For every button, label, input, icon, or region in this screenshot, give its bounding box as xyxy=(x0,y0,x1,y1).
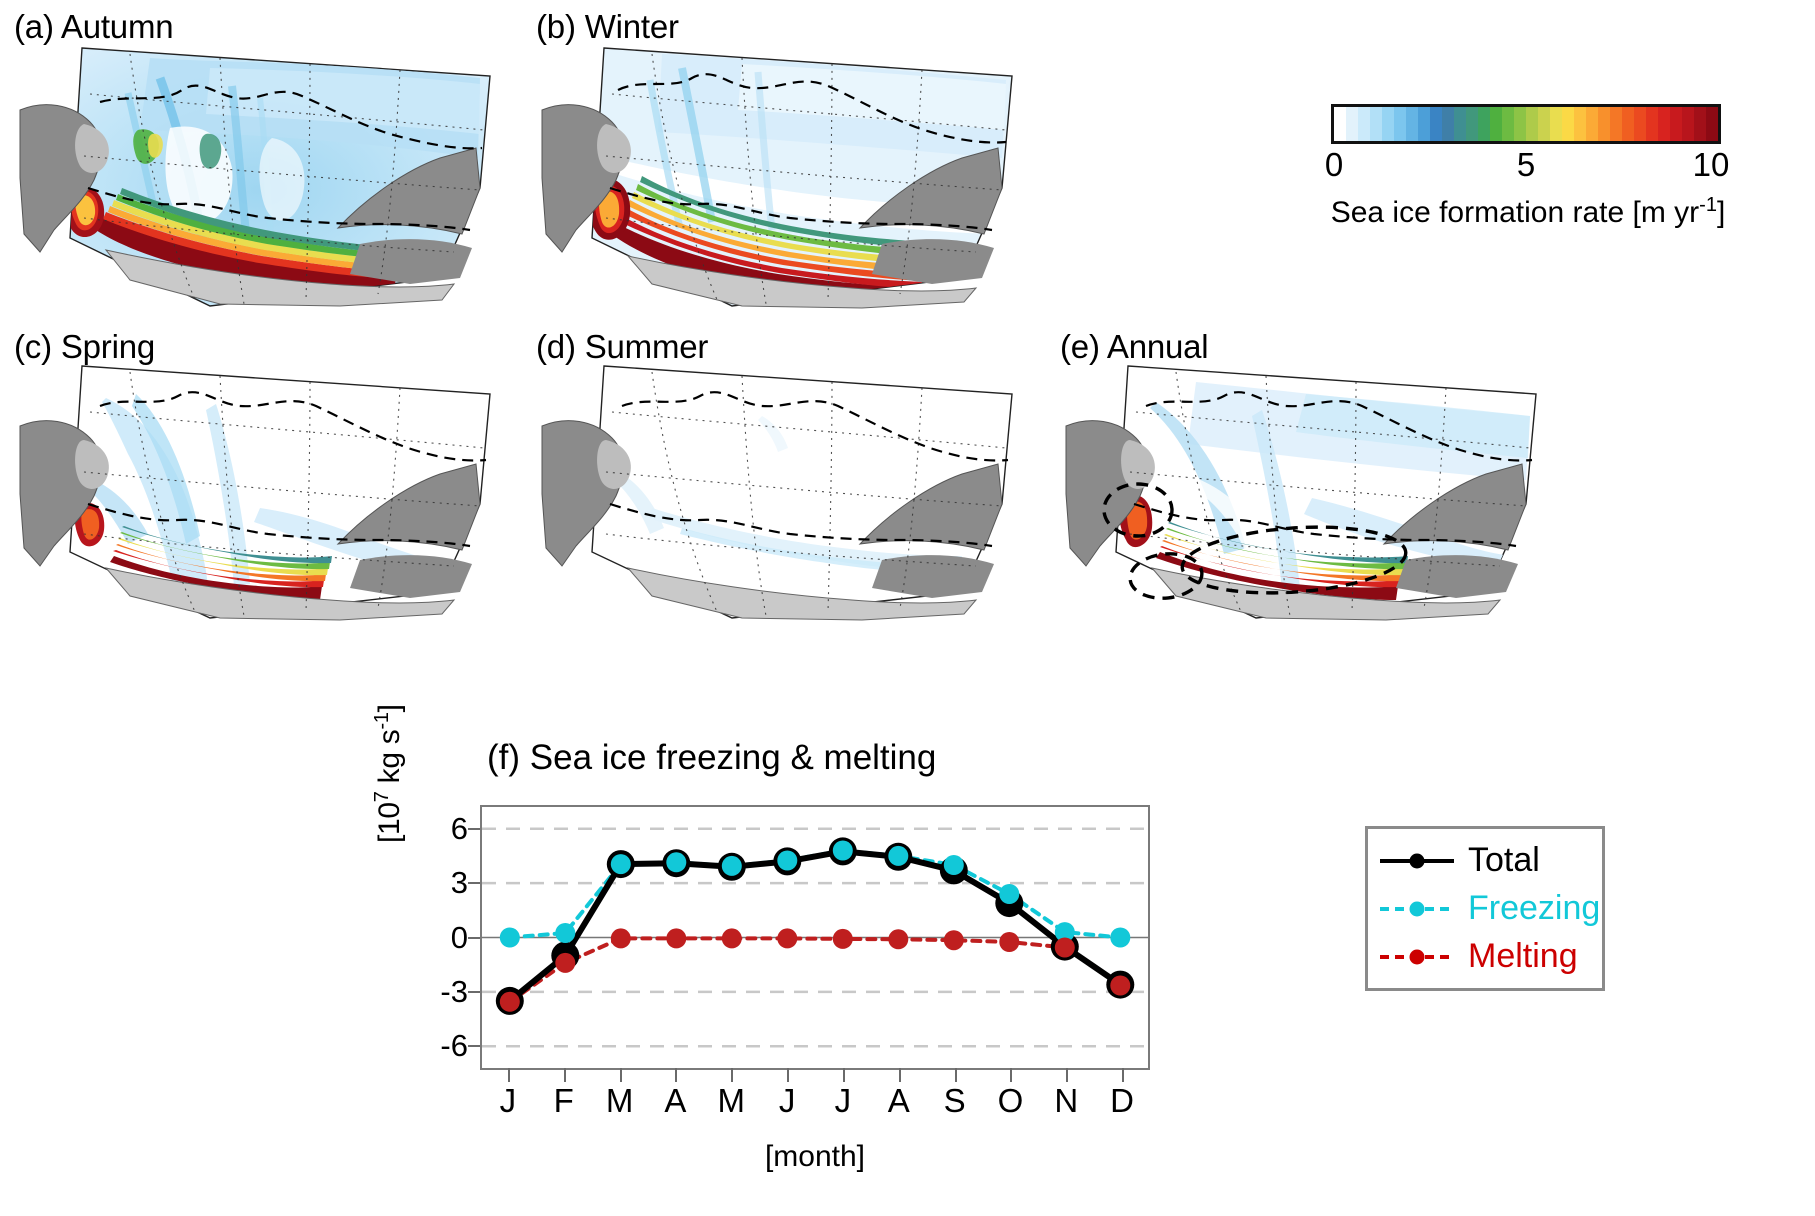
colorbar-tick-0: 0 xyxy=(1325,146,1343,184)
data-point-freezing-top-6 xyxy=(833,841,853,861)
colorbar-swatch-16 xyxy=(1526,107,1538,141)
y-tick-mark--3 xyxy=(468,991,480,993)
colorbar-swatch-0 xyxy=(1334,107,1346,141)
legend-label-freezing: Freezing xyxy=(1468,889,1600,928)
data-point-melting-top-3 xyxy=(666,928,686,948)
map-panel-summer xyxy=(532,358,1032,623)
legend-item-freezing[interactable]: Freezing xyxy=(1378,887,1592,931)
y-tick-label--3: -3 xyxy=(440,974,468,1010)
colorbar-swatch-5 xyxy=(1394,107,1406,141)
map-panel-annual xyxy=(1056,358,1556,623)
colorbar-swatch-25 xyxy=(1634,107,1646,141)
ylabel-exponent2: -1 xyxy=(371,712,393,729)
x-tick-mark-10 xyxy=(1066,1068,1068,1082)
colorbar-swatch-10 xyxy=(1454,107,1466,141)
x-tick-label-7: A xyxy=(888,1082,910,1120)
series-line-total xyxy=(510,851,1121,1001)
chart-y-tick-labels: 630-3-6 xyxy=(380,805,468,1070)
data-point-melting-top-11 xyxy=(1110,976,1130,996)
colorbar-swatch-28 xyxy=(1670,107,1682,141)
data-point-melting-top-2 xyxy=(611,928,631,948)
colorbar-swatch-14 xyxy=(1502,107,1514,141)
colorbar-swatch-17 xyxy=(1538,107,1550,141)
colorbar-swatch-23 xyxy=(1610,107,1622,141)
x-tick-label-8: S xyxy=(944,1082,966,1120)
colorbar-swatch-29 xyxy=(1682,107,1694,141)
x-tick-mark-8 xyxy=(955,1068,957,1082)
colorbar-swatch-1 xyxy=(1346,107,1358,141)
chart-plot-area xyxy=(480,805,1150,1070)
colorbar-swatch-19 xyxy=(1562,107,1574,141)
chart-x-axis-label: [month] xyxy=(480,1140,1150,1174)
data-point-melting-top-7 xyxy=(888,929,908,949)
data-point-freezing-top-5 xyxy=(777,851,797,871)
colorbar-swatch-2 xyxy=(1358,107,1370,141)
x-tick-mark-0 xyxy=(508,1068,510,1082)
colorbar-caption: Sea ice formation rate [m yr-1] xyxy=(1293,194,1763,230)
x-tick-label-9: O xyxy=(998,1082,1024,1120)
data-point-melting-top-9 xyxy=(999,932,1019,952)
data-point-freezing-top-2 xyxy=(611,854,631,874)
colorbar-caption-tail: ] xyxy=(1717,196,1725,229)
colorbar-swatch-21 xyxy=(1586,107,1598,141)
data-point-freezing-top-7 xyxy=(888,846,908,866)
legend-line-total xyxy=(1378,851,1456,871)
x-tick-mark-5 xyxy=(787,1068,789,1082)
x-tick-label-3: A xyxy=(664,1082,686,1120)
map-panel-autumn xyxy=(10,38,510,313)
legend-item-melting[interactable]: Melting xyxy=(1378,935,1592,979)
ylabel-exponent: 7 xyxy=(371,791,393,802)
colorbar-swatch-3 xyxy=(1370,107,1382,141)
data-point-melting-top-0 xyxy=(500,992,520,1012)
x-tick-mark-1 xyxy=(564,1068,566,1082)
data-point-melting-top-8 xyxy=(944,930,964,950)
data-point-freezing-top-11 xyxy=(1110,928,1130,948)
data-point-freezing-top-1 xyxy=(555,923,575,943)
colorbar-swatch-7 xyxy=(1418,107,1430,141)
x-tick-label-5: J xyxy=(779,1082,796,1120)
colorbar-swatch-24 xyxy=(1622,107,1634,141)
legend-item-total[interactable]: Total xyxy=(1378,839,1592,883)
chart-svg xyxy=(482,807,1148,1068)
colorbar-caption-text: Sea ice formation rate [m yr xyxy=(1331,196,1699,229)
x-tick-label-2: M xyxy=(606,1082,634,1120)
colorbar-swatch-30 xyxy=(1694,107,1706,141)
colorbar-swatch-4 xyxy=(1382,107,1394,141)
data-point-melting-top-4 xyxy=(722,928,742,948)
x-tick-label-1: F xyxy=(554,1082,574,1120)
colorbar-ticks: 0 5 10 xyxy=(1331,146,1721,190)
colorbar-swatch-20 xyxy=(1574,107,1586,141)
x-tick-label-0: J xyxy=(500,1082,517,1120)
data-point-freezing-top-8 xyxy=(944,855,964,875)
colorbar-swatch-27 xyxy=(1658,107,1670,141)
colorbar-swatch-22 xyxy=(1598,107,1610,141)
y-tick-label-6: 6 xyxy=(451,811,468,847)
map-panel-spring xyxy=(10,358,510,623)
colorbar-swatch-13 xyxy=(1490,107,1502,141)
legend-line-melting xyxy=(1378,947,1456,967)
data-point-melting-top-6 xyxy=(833,929,853,949)
data-point-freezing-top-0 xyxy=(500,928,520,948)
legend-line-freezing xyxy=(1378,899,1456,919)
x-tick-mark-9 xyxy=(1010,1068,1012,1082)
series-line-melting xyxy=(510,938,1121,1001)
data-point-melting-top-10 xyxy=(1055,938,1075,958)
colorbar-swatch-31 xyxy=(1706,107,1718,141)
data-point-melting-top-5 xyxy=(777,928,797,948)
y-tick-mark-0 xyxy=(468,937,480,939)
x-tick-mark-2 xyxy=(620,1068,622,1082)
y-tick-mark-3 xyxy=(468,882,480,884)
x-tick-label-11: D xyxy=(1110,1082,1134,1120)
legend-label-melting: Melting xyxy=(1468,937,1578,976)
x-tick-label-10: N xyxy=(1054,1082,1078,1120)
colorbar-swatch-15 xyxy=(1514,107,1526,141)
map-panel-winter xyxy=(532,38,1032,313)
chart-x-tick-labels: JFMAMJJASOND xyxy=(480,1082,1150,1122)
y-tick-label-0: 0 xyxy=(451,920,468,956)
colorbar-tick-10: 10 xyxy=(1693,146,1730,184)
colorbar: 0 5 10 xyxy=(1331,104,1721,190)
colorbar-tick-5: 5 xyxy=(1517,146,1535,184)
x-tick-mark-7 xyxy=(899,1068,901,1082)
colorbar-swatch-11 xyxy=(1466,107,1478,141)
x-tick-mark-6 xyxy=(843,1068,845,1082)
colorbar-swatch-18 xyxy=(1550,107,1562,141)
data-point-melting-top-1 xyxy=(555,953,575,973)
x-tick-mark-4 xyxy=(731,1068,733,1082)
x-tick-label-4: M xyxy=(718,1082,746,1120)
y-tick-label-3: 3 xyxy=(451,865,468,901)
colorbar-swatch-6 xyxy=(1406,107,1418,141)
chart-legend: Total Freezing Melting xyxy=(1365,826,1605,991)
y-tick-mark--6 xyxy=(468,1045,480,1047)
data-point-freezing-top-3 xyxy=(666,852,686,872)
x-tick-mark-11 xyxy=(1122,1068,1124,1082)
colorbar-caption-exponent: -1 xyxy=(1699,194,1717,216)
y-tick-label--6: -6 xyxy=(440,1028,468,1064)
colorbar-gradient xyxy=(1331,104,1721,144)
x-tick-label-6: J xyxy=(835,1082,852,1120)
colorbar-swatch-26 xyxy=(1646,107,1658,141)
colorbar-swatch-9 xyxy=(1442,107,1454,141)
y-tick-mark-6 xyxy=(468,828,480,830)
data-point-freezing-top-9 xyxy=(999,884,1019,904)
ylabel-end: ] xyxy=(373,704,406,712)
chart-title: (f) Sea ice freezing & melting xyxy=(487,738,936,778)
legend-label-total: Total xyxy=(1468,841,1540,880)
ylabel-post: kg s xyxy=(373,730,406,792)
colorbar-swatch-8 xyxy=(1430,107,1442,141)
data-point-freezing-top-4 xyxy=(722,856,742,876)
x-tick-mark-3 xyxy=(675,1068,677,1082)
colorbar-swatch-12 xyxy=(1478,107,1490,141)
